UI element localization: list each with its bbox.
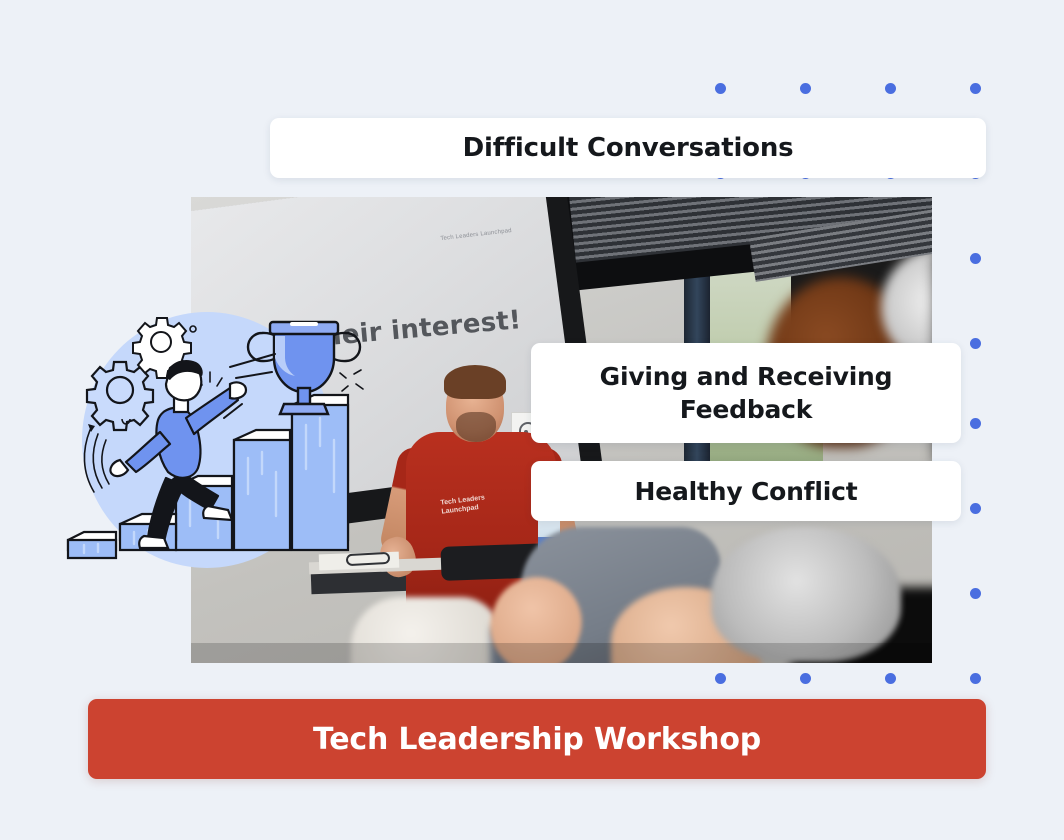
decorative-dot bbox=[800, 83, 811, 94]
bar-step-5 bbox=[292, 395, 348, 550]
topic-card-healthy-conflict[interactable]: Healthy Conflict bbox=[531, 461, 961, 521]
shoe-back bbox=[139, 536, 168, 548]
decorative-dot bbox=[970, 588, 981, 599]
bar-step-4 bbox=[234, 430, 290, 550]
decorative-dot bbox=[885, 673, 896, 684]
decorative-dot bbox=[715, 83, 726, 94]
topic-card-label: Difficult Conversations bbox=[463, 133, 794, 163]
poster-canvas: Tech Leaders Launchpad ot to be in their… bbox=[0, 0, 1064, 840]
photo-bottom-shade bbox=[191, 643, 932, 663]
photo-slide-logo: Tech Leaders Launchpad bbox=[440, 228, 512, 242]
topic-card-label: Healthy Conflict bbox=[635, 477, 858, 506]
decorative-dot bbox=[970, 673, 981, 684]
workshop-title-label: Tech Leadership Workshop bbox=[313, 722, 761, 757]
trophy-sparkle-icon bbox=[340, 370, 363, 391]
topic-card-giving-receiving-feedback[interactable]: Giving and Receiving Feedback bbox=[531, 343, 961, 443]
decorative-dot bbox=[970, 418, 981, 429]
photo-foreground-grey-cap bbox=[711, 527, 901, 662]
decorative-dot bbox=[970, 83, 981, 94]
hand-pointing bbox=[230, 382, 246, 398]
topic-card-label: Giving and Receiving Feedback bbox=[547, 360, 945, 426]
photo-presenter-beard bbox=[456, 412, 496, 442]
decorative-dot bbox=[970, 253, 981, 264]
decorative-dot bbox=[970, 503, 981, 514]
workshop-title-banner[interactable]: Tech Leadership Workshop bbox=[88, 699, 986, 779]
bar-step-1 bbox=[68, 532, 116, 558]
topic-card-difficult-conversations[interactable]: Difficult Conversations bbox=[270, 118, 986, 178]
growth-illustration bbox=[62, 300, 392, 600]
decorative-dot bbox=[715, 673, 726, 684]
decorative-dot bbox=[970, 338, 981, 349]
decorative-dot bbox=[885, 83, 896, 94]
decorative-dot bbox=[800, 673, 811, 684]
photo-presenter-hair bbox=[444, 365, 506, 399]
